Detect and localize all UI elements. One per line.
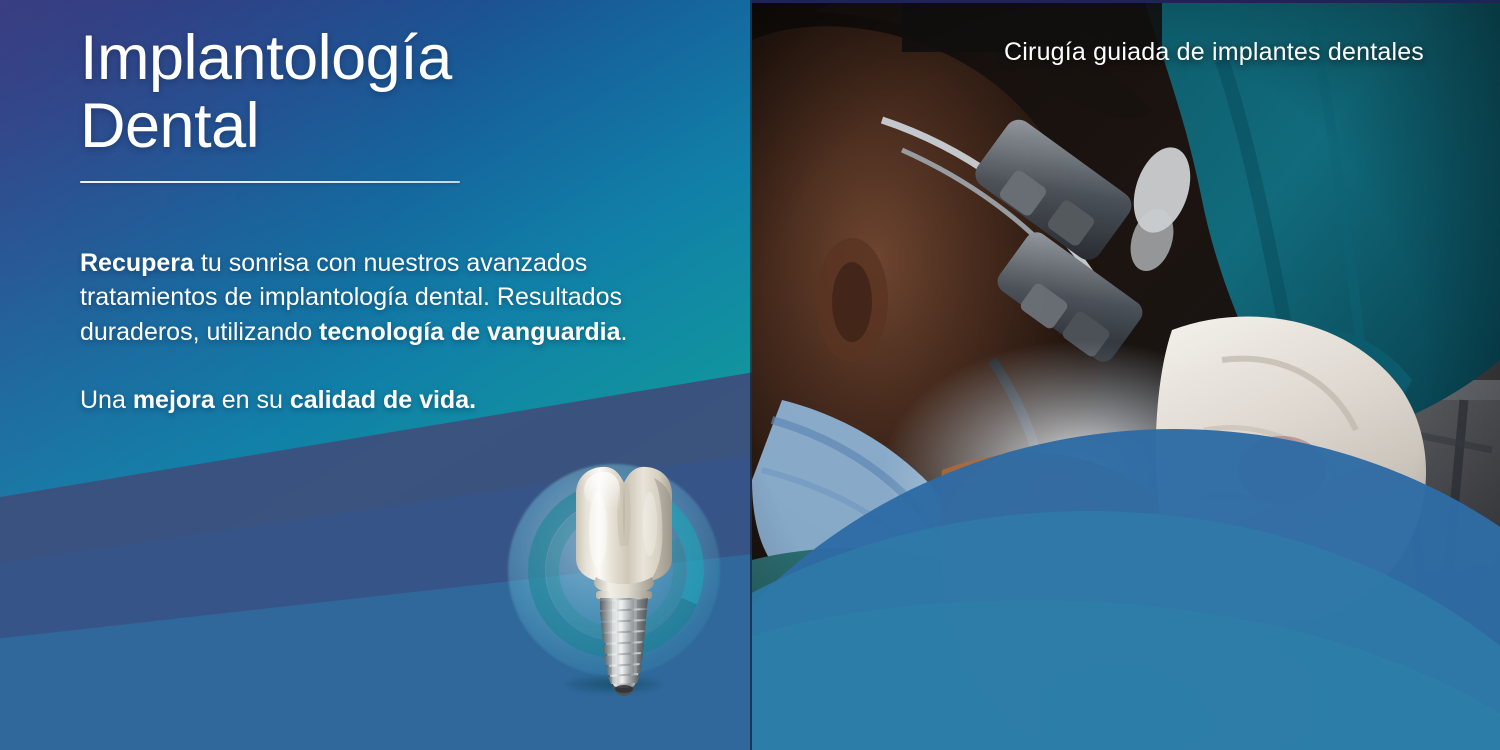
title-divider-rule	[80, 181, 460, 183]
page-title: Implantología Dental	[80, 24, 700, 160]
paragraph-2-text-a: Una	[80, 386, 133, 414]
title-line-2: Dental	[80, 92, 700, 160]
emphasis-mejora: mejora	[133, 386, 215, 414]
panel-seam-divider	[750, 0, 752, 750]
photo-caption: Cirugía guiada de implantes dentales	[1004, 38, 1424, 67]
dental-implant-graphic	[492, 440, 752, 730]
emphasis-recupera: Recupera	[80, 249, 194, 277]
paragraph-1: Recupera tu sonrisa con nuestros avanzad…	[80, 249, 627, 346]
promo-slide: Implantología Dental Recupera tu sonrisa…	[0, 0, 1500, 750]
body-copy: Recupera tu sonrisa con nuestros avanzad…	[80, 246, 720, 417]
title-line-1: Implantología	[80, 24, 700, 92]
paragraph-2-text-b: en su	[215, 386, 290, 414]
emphasis-calidad-de-vida: calidad de vida.	[290, 386, 476, 414]
paragraph-2: Una mejora en su calidad de vida.	[80, 383, 720, 417]
surgery-photo-panel	[752, 0, 1500, 750]
paragraph-1-text-b: .	[621, 318, 628, 346]
title-block: Implantología Dental	[80, 24, 700, 183]
dental-implant-icon	[550, 458, 698, 698]
emphasis-tecnologia: tecnología de vanguardia	[319, 318, 620, 346]
photo-top-edge	[752, 0, 1500, 3]
